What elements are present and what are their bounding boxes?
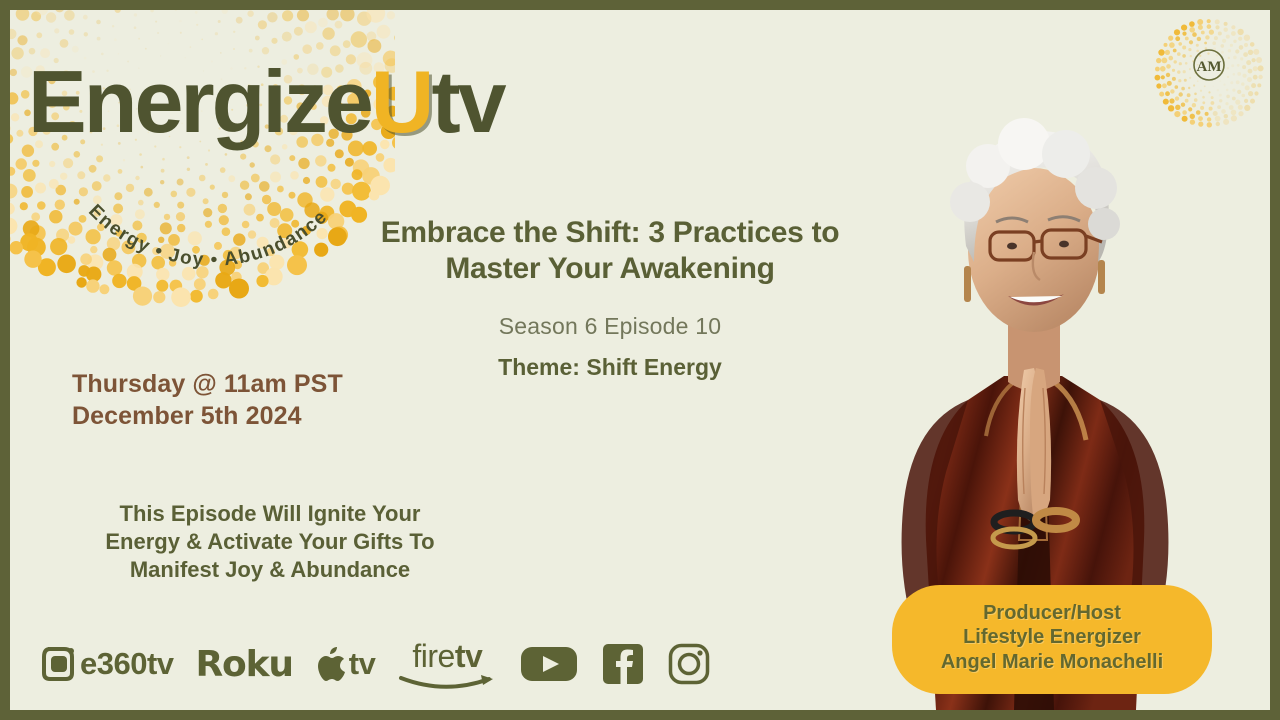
fire-word: fire [412,638,454,674]
blurb-line-2: Energy & Activate Your Gifts To [55,528,485,556]
episode-promo-poster: AM EnergizeUtv Energy • Joy • Abundance … [0,0,1280,720]
platform-apple-tv[interactable]: tv [315,643,376,685]
brand-tagline-arc: Energy • Joy • Abundance [30,130,390,270]
episode-title: Embrace the Shift: 3 Practices to Master… [360,215,860,287]
blurb-line-1: This Episode Will Ignite Your [55,500,485,528]
e360tv-icon [38,643,80,685]
episode-blurb: This Episode Will Ignite Your Energy & A… [55,500,485,584]
platform-roku[interactable]: Roku [196,644,293,685]
platform-e360tv[interactable]: e360tv [38,643,174,685]
tv-word: tv [455,638,482,674]
facebook-icon [601,642,645,686]
amazon-smile-icon [397,675,497,691]
platform-logo-row: e360tv Roku tv firetv [38,636,711,692]
episode-info-block: Embrace the Shift: 3 Practices to Master… [360,215,860,381]
roku-label: Roku [196,644,293,685]
e360tv-label: e360tv [80,646,174,682]
airing-time-line: Thursday @ 11am PST [72,368,343,400]
episode-theme-label: Theme: Shift Energy [360,354,860,381]
instagram-icon [667,642,711,686]
host-hands [1017,368,1051,522]
apple-icon [315,643,349,685]
host-name: Angel Marie Monachelli [902,650,1202,674]
platform-fire-tv[interactable]: firetv [397,638,497,691]
platform-youtube[interactable] [519,643,579,685]
brand-tagline-text: Energy • Joy • Abundance [84,201,332,270]
season-episode-label: Season 6 Episode 10 [360,313,860,340]
platform-facebook[interactable] [601,642,645,686]
platform-instagram[interactable] [667,642,711,686]
host-credit-badge: Producer/Host Lifestyle Energizer Angel … [892,585,1212,694]
fire-tv-label: firetv [412,638,482,675]
blurb-line-3: Manifest Joy & Abundance [55,556,485,584]
apple-tv-label: tv [349,646,376,682]
host-role: Producer/Host [902,601,1202,625]
wordmark-tv: tv [431,52,503,151]
youtube-icon [519,643,579,685]
poster-canvas: AM EnergizeUtv Energy • Joy • Abundance … [10,10,1270,710]
host-subtitle: Lifestyle Energizer [902,625,1202,649]
airing-date-line: December 5th 2024 [72,400,343,432]
airing-datetime: Thursday @ 11am PST December 5th 2024 [72,368,343,432]
